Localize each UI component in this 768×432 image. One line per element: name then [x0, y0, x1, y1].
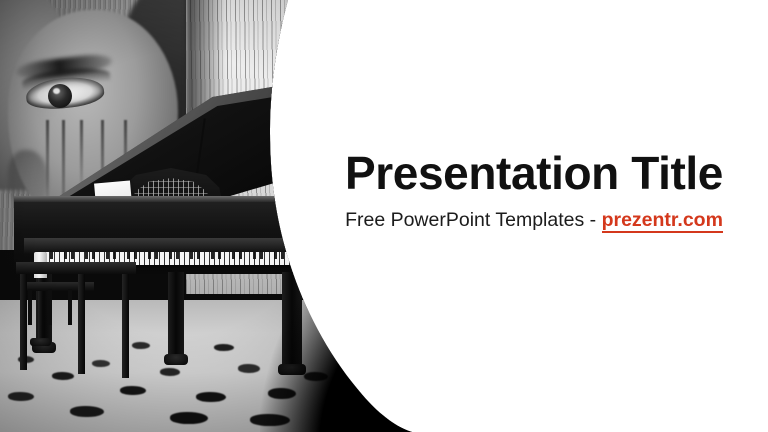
photo-dark-edge	[260, 222, 430, 432]
leaf-debris	[120, 386, 146, 395]
mural-iris	[48, 84, 72, 108]
presentation-subtitle: Free PowerPoint Templates - prezentr.com	[300, 209, 768, 232]
piano-leg-foot	[164, 354, 188, 365]
leaf-debris	[132, 342, 150, 349]
leaf-debris	[170, 412, 208, 424]
leaf-debris	[70, 406, 104, 417]
leaf-debris	[160, 368, 180, 376]
chair-spindle	[48, 289, 52, 325]
piano-leg	[168, 272, 184, 356]
subtitle-prefix: Free PowerPoint Templates -	[345, 209, 602, 231]
chair-spindle	[68, 289, 72, 325]
bench-leg	[122, 274, 129, 378]
title-text-block: Presentation Title Free PowerPoint Templ…	[300, 150, 768, 232]
piano-body-edge	[14, 196, 314, 202]
leaf-debris	[8, 392, 34, 401]
piano-black-keys	[40, 252, 295, 259]
bench-leg	[20, 274, 27, 370]
leaf-debris	[214, 344, 234, 351]
leaf-debris	[238, 364, 260, 373]
prezentr-link[interactable]: prezentr.com	[602, 209, 723, 233]
presentation-title: Presentation Title	[300, 150, 768, 197]
bench-leg	[78, 274, 85, 374]
candle-stand-base	[30, 338, 51, 346]
curtain-fold	[282, 0, 316, 294]
chair-spindle	[28, 289, 32, 325]
leaf-debris	[92, 360, 110, 367]
leaf-debris	[52, 372, 74, 380]
leaf-debris	[196, 392, 226, 402]
piano-bench	[16, 262, 136, 274]
mural-eye-highlight	[53, 88, 60, 94]
presentation-slide: Presentation Title Free PowerPoint Templ…	[0, 0, 768, 432]
